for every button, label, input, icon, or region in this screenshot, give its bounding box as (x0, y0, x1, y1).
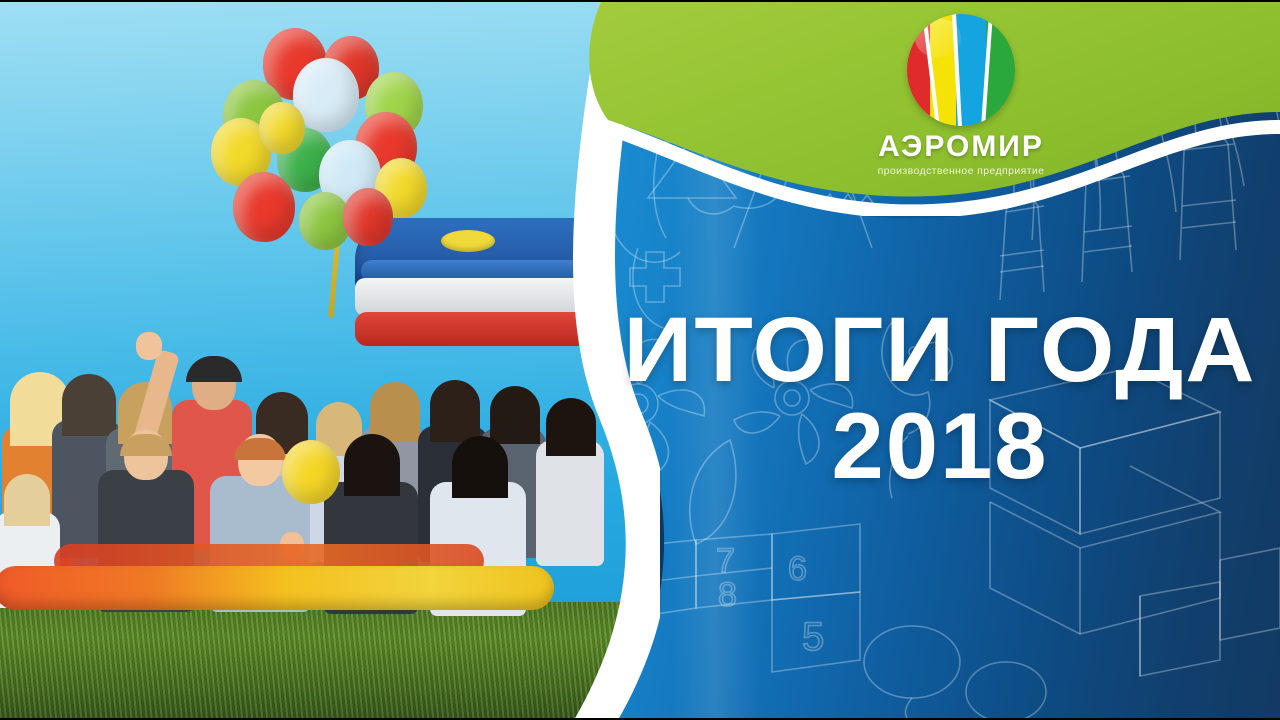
block-glyph: 8 (718, 576, 737, 614)
balloon-icon (864, 626, 1046, 720)
people-group (0, 242, 660, 662)
balloon-icon (282, 440, 340, 504)
letterbox-top (0, 0, 1280, 2)
balloon-icon (343, 188, 393, 246)
block-glyph: 7 (716, 542, 735, 580)
aeromir-logo: АЭРОМИР производственное предприятие (836, 14, 1086, 162)
gift-box-icon (1140, 548, 1280, 676)
logo-gloss (915, 18, 961, 58)
inflatable-mat (0, 566, 554, 610)
brand-name: АЭРОМИР (836, 132, 1086, 162)
balloon-bunch (215, 10, 445, 280)
balloon-icon (233, 172, 295, 242)
title-line-year: 2018 (600, 399, 1280, 493)
title-line-main: ИТОГИ ГОДА (586, 305, 1280, 395)
poster-title: ИТОГИ ГОДА 2018 (600, 305, 1280, 493)
balloon-icon (259, 102, 305, 154)
group-photo (0, 0, 660, 720)
block-glyph: 5 (802, 615, 824, 659)
block-glyph: 6 (788, 550, 807, 588)
beach-ball-logo-icon (907, 14, 1015, 126)
person (536, 394, 604, 566)
star-icon (630, 252, 680, 302)
brand-tagline: производственное предприятие (836, 165, 1086, 177)
poster-canvas: LOGO (0, 0, 1280, 720)
